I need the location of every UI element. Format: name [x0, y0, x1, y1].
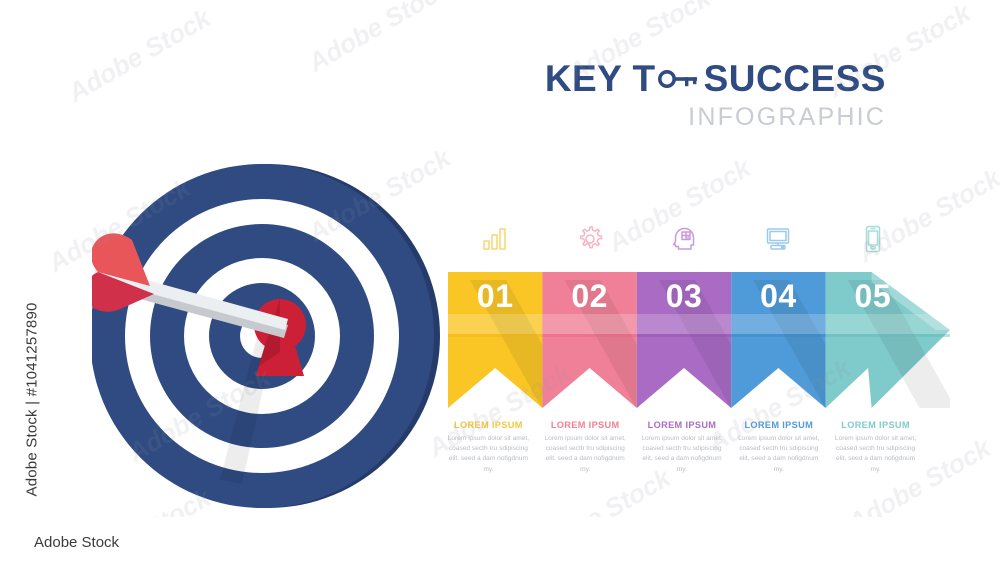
- step-number-label: 03: [666, 278, 703, 315]
- gear-icon: [575, 224, 605, 254]
- watermark-tile: Adobe Stock: [303, 0, 456, 79]
- page-title: KEY T SUCCESS: [545, 60, 886, 97]
- step-caption-body: Lorem ipsum dolor sit amet, coased secth…: [444, 434, 533, 475]
- key-icon: [657, 68, 699, 90]
- monitor-icon: [763, 224, 793, 254]
- bar-chart-icon: [480, 224, 510, 254]
- step-caption-body: Lorem ipsum dolor sit amet, coased secth…: [734, 434, 823, 475]
- smartphone-icon: [858, 224, 888, 254]
- step-caption-heading: LOREM IPSUM: [444, 420, 533, 430]
- key-ridge-line-03: [637, 334, 731, 337]
- step-caption-05: LOREM IPSUMLorem ipsum dolor sit amet, c…: [827, 420, 924, 490]
- stock-brand-label: Adobe Stock: [34, 534, 119, 551]
- step-number-label: 02: [571, 278, 608, 315]
- stock-id-label: Adobe Stock | #1041257890: [24, 197, 41, 497]
- step-number-05[interactable]: 05: [826, 272, 920, 320]
- step-number-label: 01: [477, 278, 514, 315]
- title-text-part2: SUCCESS: [704, 60, 886, 97]
- dartboard-svg: [92, 162, 440, 510]
- key-ridge-line-01: [448, 334, 542, 337]
- step-icon-02[interactable]: [542, 215, 636, 263]
- step-caption-04: LOREM IPSUMLorem ipsum dolor sit amet, c…: [730, 420, 827, 490]
- step-caption-01: LOREM IPSUMLorem ipsum dolor sit amet, c…: [440, 420, 537, 490]
- title-block: KEY T SUCCESS INFOGRAPHIC: [545, 60, 886, 132]
- step-caption-heading: LOREM IPSUM: [638, 420, 727, 430]
- step-number-label: 04: [760, 278, 797, 315]
- step-caption-body: Lorem ipsum dolor sit amet, coased secth…: [831, 434, 920, 475]
- title-text-part1: KEY T: [545, 60, 656, 97]
- step-icons-row: [448, 215, 920, 263]
- dartboard-target: [92, 162, 440, 510]
- infographic-canvas: 0102030405 LOREM IPSUMLorem ipsum dolor …: [0, 0, 1000, 565]
- step-caption-body: Lorem ipsum dolor sit amet, coased secth…: [638, 434, 727, 475]
- step-icon-05[interactable]: [826, 215, 920, 263]
- keyhole-icon: [254, 299, 306, 376]
- step-number-label: 05: [855, 278, 892, 315]
- step-caption-03: LOREM IPSUMLorem ipsum dolor sit amet, c…: [634, 420, 731, 490]
- step-icon-04[interactable]: [731, 215, 825, 263]
- step-number-03[interactable]: 03: [637, 272, 731, 320]
- step-numbers-row: 0102030405: [448, 272, 920, 320]
- step-number-01[interactable]: 01: [448, 272, 542, 320]
- step-caption-heading: LOREM IPSUM: [831, 420, 920, 430]
- watermark-tile: Adobe Stock: [63, 2, 216, 108]
- step-icon-03[interactable]: [637, 215, 731, 263]
- step-number-04[interactable]: 04: [731, 272, 825, 320]
- step-number-02[interactable]: 02: [542, 272, 636, 320]
- page-subtitle: INFOGRAPHIC: [545, 103, 886, 132]
- key-ridge-line-05: [826, 334, 950, 337]
- step-captions-row: LOREM IPSUMLorem ipsum dolor sit amet, c…: [440, 420, 924, 490]
- key-ridge-line-02: [542, 334, 636, 337]
- step-caption-body: Lorem ipsum dolor sit amet, coased secth…: [541, 434, 630, 475]
- stock-left-rail: Adobe Stock | #1041257890: [0, 0, 34, 565]
- step-caption-heading: LOREM IPSUM: [734, 420, 823, 430]
- stock-bottom-rail: Adobe Stock: [0, 517, 1000, 565]
- step-caption-heading: LOREM IPSUM: [541, 420, 630, 430]
- step-icon-01[interactable]: [448, 215, 542, 263]
- head-brain-icon: [669, 224, 699, 254]
- step-caption-02: LOREM IPSUMLorem ipsum dolor sit amet, c…: [537, 420, 634, 490]
- key-ridge-line-04: [731, 334, 825, 337]
